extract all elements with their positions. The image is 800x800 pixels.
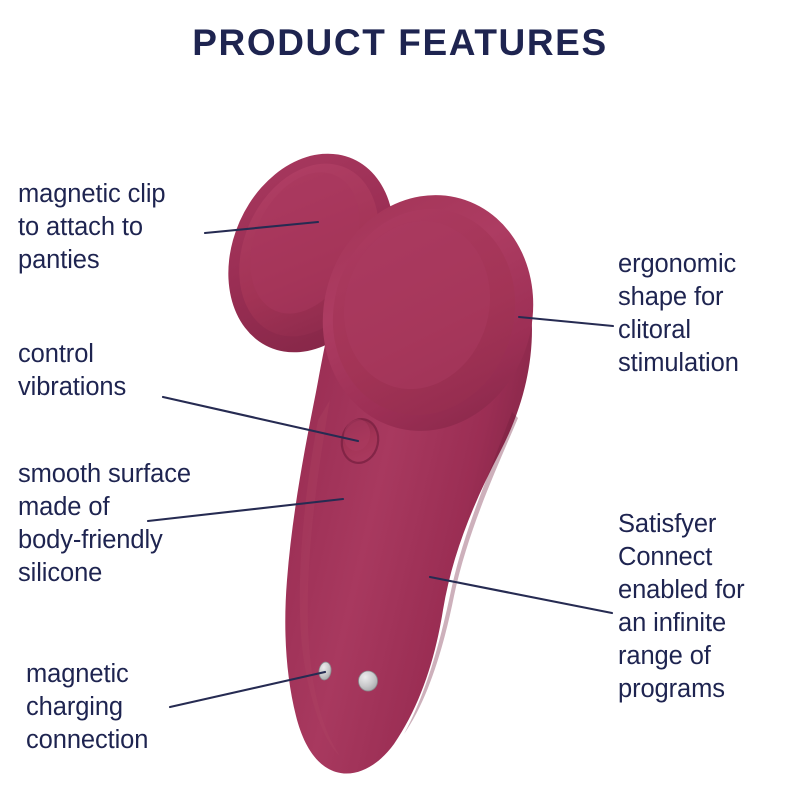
callout-smooth-surface: smooth surface made of body-friendly sil… <box>18 458 191 590</box>
leader-line-satisfyer-connect <box>430 577 612 613</box>
callout-ergonomic-shape: ergonomic shape for clitoral stimulation <box>618 248 739 380</box>
callout-magnetic-charging-connection: magnetic charging connection <box>26 658 148 757</box>
callout-satisfyer-connect: Satisfyer Connect enabled for an infinit… <box>618 508 745 706</box>
callout-control-vibrations: control vibrations <box>18 338 126 404</box>
product-features-infographic: PRODUCT FEATURES <box>0 0 800 800</box>
callout-magnetic-clip: magnetic clip to attach to panties <box>18 178 166 277</box>
charging-contact-pin-2 <box>359 671 378 691</box>
leader-line-ergonomic-shape <box>519 317 613 326</box>
